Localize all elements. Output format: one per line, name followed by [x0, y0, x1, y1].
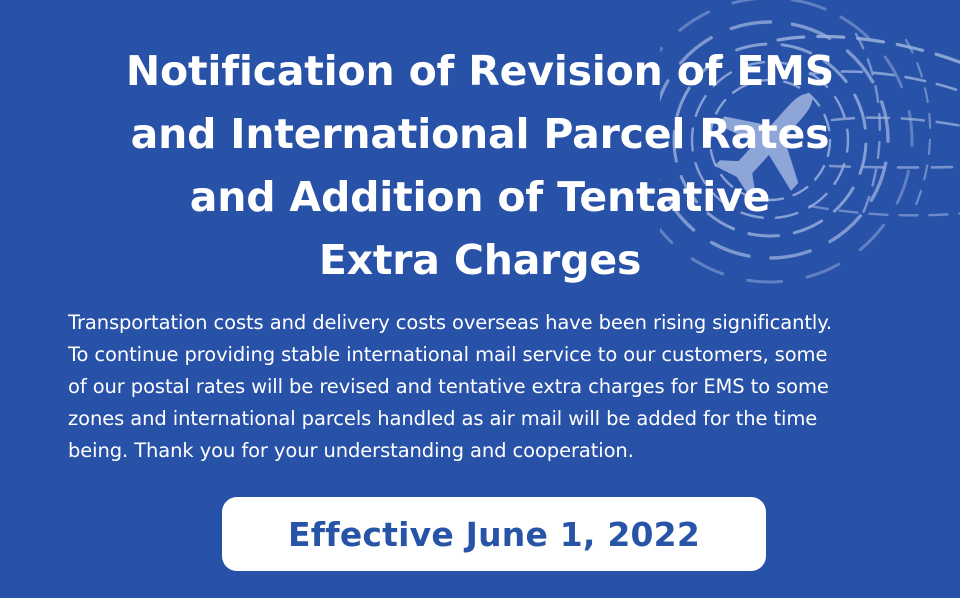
notification-poster: Notification of Revision of EMS and Inte…: [0, 0, 960, 598]
page-title: Notification of Revision of EMS and Inte…: [0, 40, 960, 292]
headline-line-3: and Addition of Tentative: [0, 166, 960, 229]
headline-line-4: Extra Charges: [0, 229, 960, 292]
effective-date-button[interactable]: Effective June 1, 2022: [222, 497, 766, 571]
headline-line-1: Notification of Revision of EMS: [0, 40, 960, 103]
effective-date-label: Effective June 1, 2022: [288, 518, 700, 551]
body-line-1: Transportation costs and delivery costs …: [68, 307, 914, 339]
body-line-3: of our postal rates will be revised and …: [68, 371, 914, 403]
body-line-2: To continue providing stable internation…: [68, 339, 914, 371]
headline-line-2: and International Parcel Rates: [0, 103, 960, 166]
body-paragraph: Transportation costs and delivery costs …: [68, 307, 914, 467]
body-line-4: zones and international parcels handled …: [68, 403, 914, 435]
body-line-5: being. Thank you for your understanding …: [68, 435, 914, 467]
